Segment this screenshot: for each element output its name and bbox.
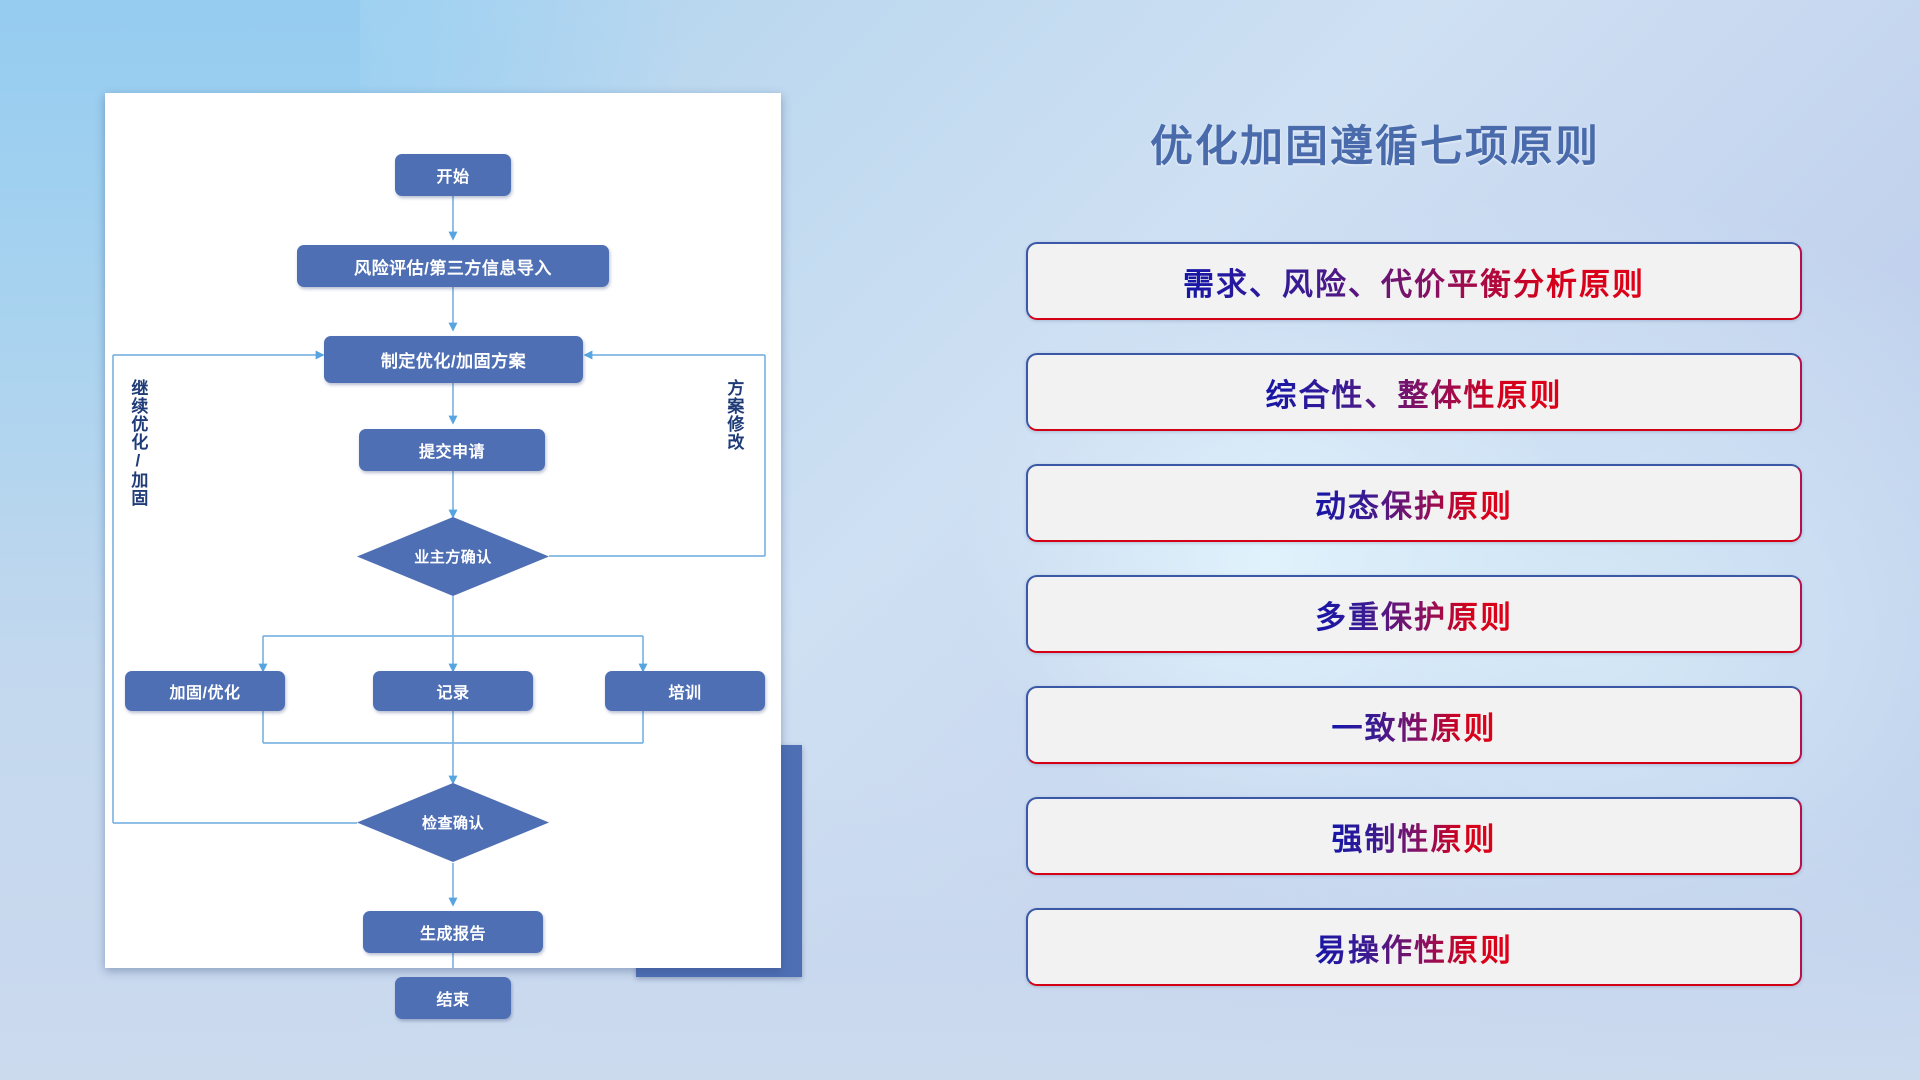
flow-node-label: 生成报告 (420, 920, 486, 944)
flow-node-label: 记录 (436, 679, 469, 703)
principle-item-6[interactable]: 强制性原则 (1026, 797, 1802, 875)
flow-node-label: 制定优化/加固方案 (381, 347, 526, 372)
flow-node-label-wrap: 检查确认 (357, 783, 549, 862)
flow-node-start[interactable]: 开始 (395, 154, 511, 196)
principle-item-1[interactable]: 需求、风险、代价平衡分析原则 (1026, 242, 1802, 320)
flow-node-submit-application[interactable]: 提交申请 (359, 429, 545, 471)
flow-node-generate-report[interactable]: 生成报告 (363, 911, 543, 953)
flow-node-label: 加固/优化 (170, 679, 241, 703)
flow-node-end[interactable]: 结束 (395, 977, 511, 1019)
flow-node-record[interactable]: 记录 (373, 671, 533, 711)
principle-label: 一致性原则 (1332, 703, 1497, 748)
flow-node-label-wrap: 业主方确认 (357, 517, 549, 596)
flow-node-label: 培训 (668, 679, 701, 703)
page-title: 优化加固遵循七项原则 (1150, 112, 1850, 174)
flow-node-label: 提交申请 (419, 438, 485, 462)
edge-label-text: 方案修改 (724, 379, 743, 451)
principle-label: 易操作性原则 (1315, 925, 1513, 970)
principle-item-2[interactable]: 综合性、整体性原则 (1026, 353, 1802, 431)
edge-label-plan-revision: 方案修改 (725, 379, 742, 451)
flow-node-label: 业主方确认 (414, 546, 492, 567)
flow-node-label: 结束 (436, 986, 469, 1010)
flow-node-label: 开始 (436, 163, 469, 187)
flow-node-check-confirm[interactable]: 检查确认 (357, 783, 549, 862)
flow-node-risk-assessment[interactable]: 风险评估/第三方信息导入 (297, 245, 609, 287)
principle-label: 强制性原则 (1332, 814, 1497, 859)
flow-node-label: 风险评估/第三方信息导入 (354, 254, 552, 279)
flow-node-label: 检查确认 (422, 812, 484, 833)
principle-label: 多重保护原则 (1315, 592, 1513, 637)
flowchart: 开始 风险评估/第三方信息导入 制定优化/加固方案 提交申请 业主方确认 加固/… (105, 93, 781, 968)
principle-item-5[interactable]: 一致性原则 (1026, 686, 1802, 764)
principle-item-4[interactable]: 多重保护原则 (1026, 575, 1802, 653)
flow-node-reinforce[interactable]: 加固/优化 (125, 671, 285, 711)
principle-label: 需求、风险、代价平衡分析原则 (1183, 259, 1645, 304)
flowchart-card: 开始 风险评估/第三方信息导入 制定优化/加固方案 提交申请 业主方确认 加固/… (105, 93, 781, 968)
flow-node-owner-confirm[interactable]: 业主方确认 (357, 517, 549, 596)
edge-label-continue-optimize: 继续优化/加固 (129, 379, 146, 507)
flow-node-training[interactable]: 培训 (605, 671, 765, 711)
principle-label: 动态保护原则 (1315, 481, 1513, 526)
principle-item-7[interactable]: 易操作性原则 (1026, 908, 1802, 986)
principle-label: 综合性、整体性原则 (1266, 370, 1563, 415)
principle-item-3[interactable]: 动态保护原则 (1026, 464, 1802, 542)
flow-node-plan[interactable]: 制定优化/加固方案 (324, 336, 583, 383)
edge-label-text: 继续优化/加固 (128, 379, 147, 507)
